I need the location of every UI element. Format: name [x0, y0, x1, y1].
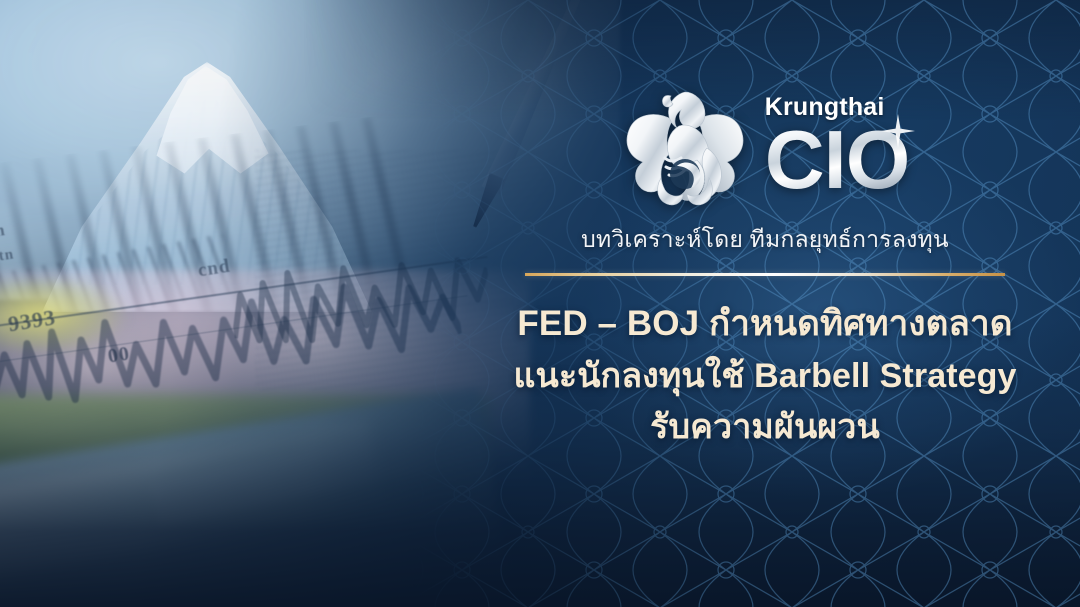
content-block: Krungthai CIO บทวิเคราะห์โดย ทีมกลยุทธ์ก…	[470, 86, 1060, 453]
vayupak-bird-icon	[621, 86, 749, 208]
byline-subtitle: บทวิเคราะห์โดย ทีมกลยุทธ์การลงทุน	[581, 224, 949, 255]
cio-wordmark: CIO	[765, 122, 910, 198]
headline-line-1: FED – BOJ กำหนดทิศทางตลาด	[513, 298, 1016, 351]
gold-divider	[525, 273, 1005, 276]
article-headline: FED – BOJ กำหนดทิศทางตลาด แนะนักลงทุนใช้…	[513, 298, 1016, 453]
krungthai-cio-logo[interactable]: Krungthai CIO	[621, 86, 910, 208]
cio-wordmark-wrap: CIO	[765, 122, 910, 198]
headline-line-2: แนะนักลงทุนใช้ Barbell Strategy	[513, 351, 1016, 402]
logo-wordmark: Krungthai CIO	[765, 95, 910, 198]
headline-line-3: รับความผันผวน	[513, 402, 1016, 453]
cio-article-banner: 9393 00 cnd thn Itn	[0, 0, 1080, 607]
